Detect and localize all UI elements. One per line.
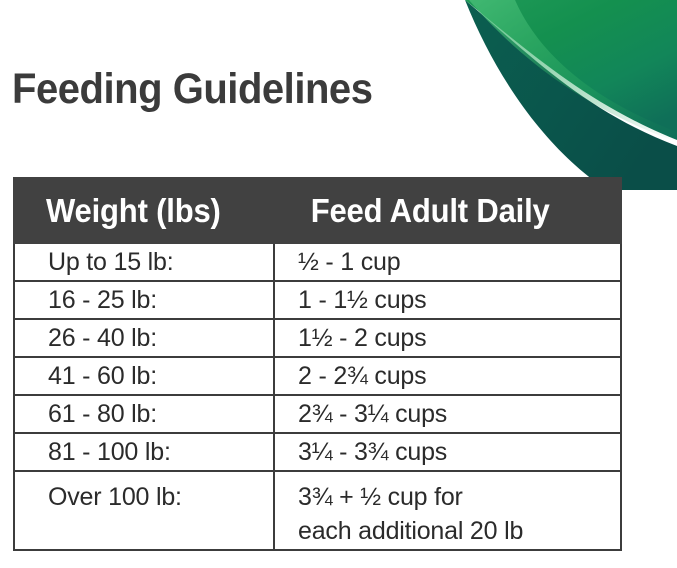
cell-feed: 3¼ - 3¾ cups [274, 433, 621, 471]
feeding-guidelines-page: Feeding Guidelines Weight (lbs) Feed Adu… [0, 0, 677, 568]
cell-weight: 61 - 80 lb: [14, 395, 274, 433]
column-header-feed-label: Feed Adult Daily [275, 194, 599, 228]
table-row: 61 - 80 lb: 2¾ - 3¼ cups [14, 395, 621, 433]
cell-weight-value: 16 - 25 lb: [15, 285, 273, 315]
cell-feed-value: 1 - 1½ cups [275, 285, 620, 315]
table-row: Over 100 lb: 3¾ + ½ cup for each additio… [14, 471, 621, 550]
cell-weight-value: 26 - 40 lb: [15, 323, 273, 353]
cell-weight: 41 - 60 lb: [14, 357, 274, 395]
cell-weight-value: Up to 15 lb: [15, 247, 273, 277]
column-header-weight-label: Weight (lbs) [15, 194, 258, 228]
table-row: 81 - 100 lb: 3¼ - 3¾ cups [14, 433, 621, 471]
cell-weight-value: 41 - 60 lb: [15, 361, 273, 391]
cell-feed: 2 - 2¾ cups [274, 357, 621, 395]
cell-feed-value: 2¾ - 3¼ cups [275, 399, 620, 429]
cell-feed: 3¾ + ½ cup for each additional 20 lb [274, 471, 621, 550]
cell-feed-value: 3¾ + ½ cup for each additional 20 lb [275, 472, 620, 548]
table-row: Up to 15 lb: ½ - 1 cup [14, 243, 621, 281]
column-header-weight: Weight (lbs) [14, 178, 274, 243]
cell-feed-value: 3¼ - 3¾ cups [275, 437, 620, 467]
feeding-guidelines-table: Weight (lbs) Feed Adult Daily Up to 15 l… [13, 177, 622, 551]
cell-weight-value: 61 - 80 lb: [15, 399, 273, 429]
green-swoosh-decoration [377, 0, 677, 190]
cell-feed: 1½ - 2 cups [274, 319, 621, 357]
page-title: Feeding Guidelines [12, 64, 372, 114]
cell-feed: 2¾ - 3¼ cups [274, 395, 621, 433]
cell-feed: 1 - 1½ cups [274, 281, 621, 319]
cell-feed: ½ - 1 cup [274, 243, 621, 281]
cell-feed-value: 1½ - 2 cups [275, 323, 620, 353]
table-row: 41 - 60 lb: 2 - 2¾ cups [14, 357, 621, 395]
cell-weight-value: 81 - 100 lb: [15, 437, 273, 467]
cell-feed-value: 2 - 2¾ cups [275, 361, 620, 391]
table-row: 26 - 40 lb: 1½ - 2 cups [14, 319, 621, 357]
table-header-row: Weight (lbs) Feed Adult Daily [14, 178, 621, 243]
cell-feed-value: ½ - 1 cup [275, 247, 620, 277]
cell-weight: Over 100 lb: [14, 471, 274, 550]
cell-weight: 16 - 25 lb: [14, 281, 274, 319]
cell-weight: 81 - 100 lb: [14, 433, 274, 471]
cell-weight-value: Over 100 lb: [15, 472, 273, 514]
cell-weight: Up to 15 lb: [14, 243, 274, 281]
table-row: 16 - 25 lb: 1 - 1½ cups [14, 281, 621, 319]
column-header-feed: Feed Adult Daily [274, 178, 621, 243]
cell-weight: 26 - 40 lb: [14, 319, 274, 357]
